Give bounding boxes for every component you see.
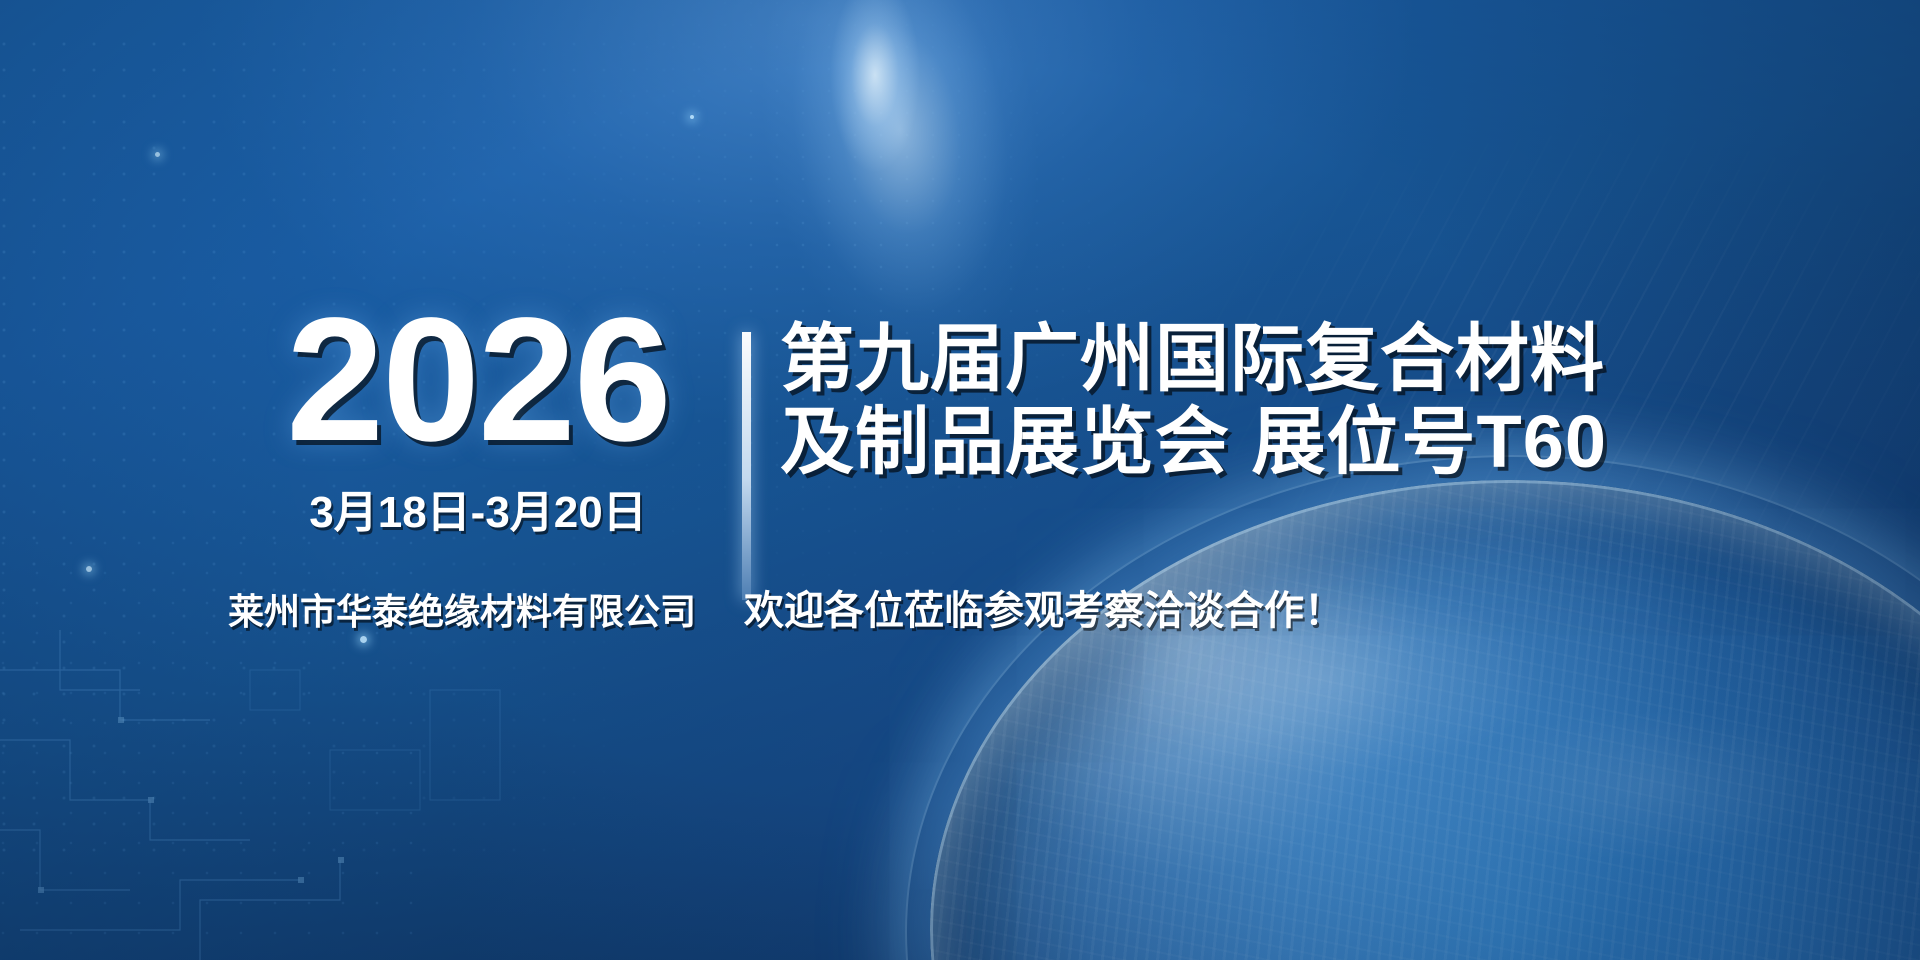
year-date-block: 2026 3月18日-3月20日 xyxy=(228,300,728,540)
event-title-block: 第九届广州国际复合材料 及制品展览会 展位号T60 xyxy=(780,318,1607,484)
date-range-label: 3月18日-3月20日 xyxy=(228,476,728,540)
vertical-divider xyxy=(742,332,751,600)
event-title-line-1: 第九届广州国际复合材料 xyxy=(780,318,1607,401)
event-title-line-2: 及制品展览会 展位号T60 xyxy=(780,401,1607,484)
banner-content: 2026 3月18日-3月20日 第九届广州国际复合材料 及制品展览会 展位号T… xyxy=(0,0,1920,960)
year-label: 2026 xyxy=(228,300,728,462)
footer-row: 莱州市华泰绝缘材料有限公司 欢迎各位莅临参观考察洽谈合作！ xyxy=(228,578,1344,636)
exhibition-banner: 2026 3月18日-3月20日 第九届广州国际复合材料 及制品展览会 展位号T… xyxy=(0,0,1920,960)
welcome-message-label: 欢迎各位莅临参观考察洽谈合作！ xyxy=(744,578,1344,636)
company-name-label: 莱州市华泰绝缘材料有限公司 xyxy=(228,583,696,635)
